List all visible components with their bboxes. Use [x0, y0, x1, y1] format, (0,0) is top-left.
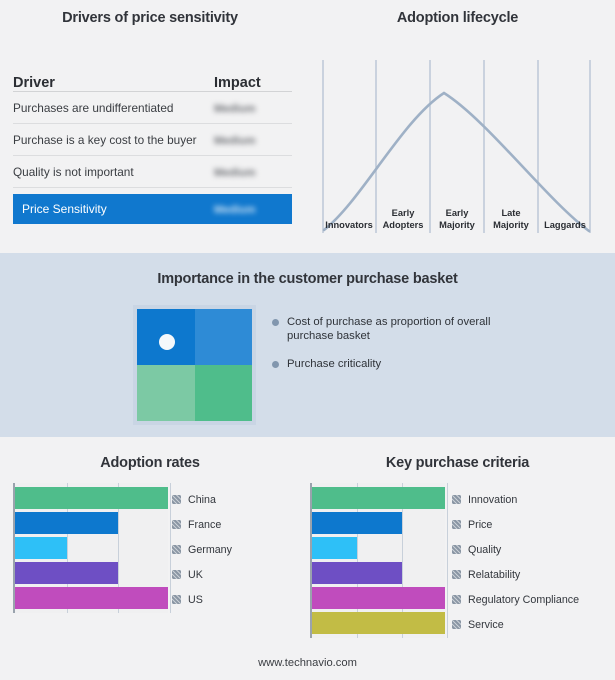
quadrant-bottom-left: [137, 365, 195, 421]
drivers-panel: Drivers of price sensitivity Driver Impa…: [0, 0, 300, 253]
legend-item: Relatability: [452, 562, 612, 587]
adoption-rates-title: Adoption rates: [0, 455, 300, 471]
legend-item-label: China: [188, 494, 216, 506]
purchase-basket-panel: Importance in the customer purchase bask…: [0, 253, 615, 437]
drivers-title: Drivers of price sensitivity: [0, 10, 300, 26]
quadrant-matrix-frame: [133, 305, 256, 425]
bar-row: [312, 562, 445, 584]
legend-item-label: France: [188, 519, 221, 531]
legend-item-label: Quality: [468, 544, 501, 556]
quadrant-matrix: [137, 309, 252, 421]
adoption-rates-plot-area: [13, 483, 168, 613]
legend-swatch-icon: [172, 495, 181, 504]
quadrant-bottom-right: [195, 365, 253, 421]
legend-swatch-icon: [452, 620, 461, 629]
adoption-rates-chart: [13, 483, 168, 613]
impact-value: Medium: [214, 163, 292, 181]
bullet-icon: [272, 361, 279, 368]
footer-url: www.technavio.com: [0, 657, 615, 669]
legend-item-label: US: [188, 594, 203, 606]
legend-item-label: Service: [468, 619, 504, 631]
legend-item: France: [172, 512, 292, 537]
purchase-basket-legend: Cost of purchase as proportion of overal…: [272, 315, 572, 385]
lifecycle-segment-label: Late Majority: [484, 198, 538, 232]
bar-row: [312, 612, 445, 634]
bottom-section: Adoption rates ChinaFranceGermanyUKUS Ke…: [0, 437, 615, 680]
table-row-highlighted: Price Sensitivity Medium: [13, 194, 292, 224]
legend-item-label: Price: [468, 519, 492, 531]
bar-row: [312, 512, 445, 534]
gridline: [170, 483, 171, 613]
legend-swatch-icon: [172, 520, 181, 529]
purchase-basket-title: Importance in the customer purchase bask…: [0, 271, 615, 287]
legend-item: Regulatory Compliance: [452, 587, 612, 612]
bar-quality: [312, 537, 357, 559]
bar-row: [15, 512, 168, 534]
bar-relatability: [312, 562, 402, 584]
bar-us: [15, 587, 168, 609]
infographic-page: Drivers of price sensitivity Driver Impa…: [0, 0, 615, 680]
legend-item-label: Cost of purchase as proportion of overal…: [287, 315, 502, 343]
legend-swatch-icon: [172, 595, 181, 604]
key-purchase-criteria-chart: [310, 483, 445, 638]
legend-item-label: Innovation: [468, 494, 517, 506]
legend-item: Service: [452, 612, 612, 637]
driver-label-highlighted: Price Sensitivity: [22, 202, 214, 216]
legend-item: Innovation: [452, 487, 612, 512]
legend-item: Germany: [172, 537, 292, 562]
bar-uk: [15, 562, 118, 584]
legend-item: Quality: [452, 537, 612, 562]
legend-item-label: Germany: [188, 544, 232, 556]
bar-price: [312, 512, 402, 534]
impact-value-text: Medium: [214, 103, 256, 115]
legend-swatch-icon: [172, 545, 181, 554]
bar-regulatory-compliance: [312, 587, 445, 609]
legend-item: China: [172, 487, 292, 512]
legend-item-label: Regulatory Compliance: [468, 594, 579, 606]
driver-label: Purchase is a key cost to the buyer: [13, 133, 214, 147]
legend-item: Price: [452, 512, 612, 537]
legend-item: Cost of purchase as proportion of overal…: [272, 315, 572, 343]
bar-row: [15, 562, 168, 584]
gridline: [447, 483, 448, 638]
legend-item-label: UK: [188, 569, 203, 581]
driver-label: Quality is not important: [13, 165, 214, 179]
legend-item-label: Relatability: [468, 569, 520, 581]
table-header-row: Driver Impact: [13, 64, 292, 92]
bar-row: [312, 487, 445, 509]
bar-service: [312, 612, 445, 634]
lifecycle-segment-label: Innovators: [322, 198, 376, 232]
impact-value-text: Medium: [214, 167, 256, 179]
lifecycle-segment-label: Laggards: [538, 198, 592, 232]
impact-value-text: Medium: [214, 204, 256, 216]
impact-value-text: Medium: [214, 135, 256, 147]
drivers-table: Driver Impact Purchases are undifferenti…: [13, 64, 292, 224]
bar-innovation: [312, 487, 445, 509]
bar-france: [15, 512, 118, 534]
lifecycle-segment-label: Early Majority: [430, 198, 484, 232]
legend-swatch-icon: [452, 495, 461, 504]
top-section: Drivers of price sensitivity Driver Impa…: [0, 0, 615, 253]
lifecycle-segment-label: Early Adopters: [376, 198, 430, 232]
table-row: Purchases are undifferentiated Medium: [13, 92, 292, 124]
adoption-lifecycle-panel: Adoption lifecycle Innovators Early Adop…: [300, 0, 615, 253]
key-purchase-criteria-plot-area: [310, 483, 445, 638]
legend-swatch-icon: [452, 570, 461, 579]
bar-row: [15, 537, 168, 559]
legend-swatch-icon: [452, 595, 461, 604]
bar-germany: [15, 537, 67, 559]
legend-item: US: [172, 587, 292, 612]
impact-value: Medium: [214, 99, 292, 117]
bar-row: [312, 587, 445, 609]
impact-value: Medium: [214, 131, 292, 149]
table-row: Purchase is a key cost to the buyer Medi…: [13, 124, 292, 156]
column-header-driver: Driver: [13, 75, 214, 91]
legend-swatch-icon: [452, 520, 461, 529]
legend-item-label: Purchase criticality: [287, 357, 381, 371]
position-marker-dot: [159, 334, 175, 350]
quadrant-top-right: [195, 309, 253, 365]
key-purchase-criteria-title: Key purchase criteria: [300, 455, 615, 471]
legend-swatch-icon: [452, 545, 461, 554]
bar-row: [15, 587, 168, 609]
bar-row: [15, 487, 168, 509]
legend-swatch-icon: [172, 570, 181, 579]
bullet-icon: [272, 319, 279, 326]
bar-china: [15, 487, 168, 509]
quadrant-top-left: [137, 309, 195, 365]
driver-label: Purchases are undifferentiated: [13, 101, 214, 115]
adoption-lifecycle-labels: Innovators Early Adopters Early Majority…: [322, 198, 592, 232]
table-row: Quality is not important Medium: [13, 156, 292, 188]
legend-item: Purchase criticality: [272, 357, 572, 371]
column-header-impact: Impact: [214, 75, 292, 91]
bar-row: [312, 537, 445, 559]
adoption-rates-legend: ChinaFranceGermanyUKUS: [172, 483, 292, 612]
legend-item: UK: [172, 562, 292, 587]
impact-value-highlighted: Medium: [214, 200, 292, 218]
key-purchase-criteria-legend: InnovationPriceQualityRelatabilityRegula…: [452, 483, 612, 637]
adoption-lifecycle-title: Adoption lifecycle: [300, 10, 615, 26]
